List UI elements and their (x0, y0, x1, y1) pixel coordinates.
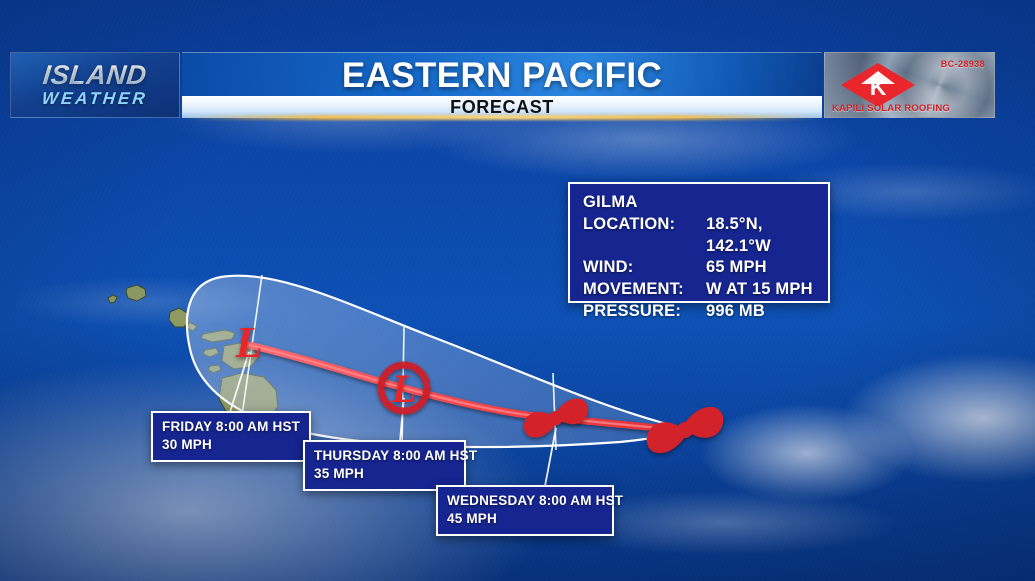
location-label: LOCATION: (583, 214, 706, 258)
forecast-callout-wednesday: WEDNESDAY 8:00 AM HST 45 MPH (436, 485, 614, 536)
movement-label: MOVEMENT: (583, 279, 706, 301)
storm-info-row-location: LOCATION: 18.5°N, 142.1°W (583, 214, 828, 258)
page-title: EASTERN PACIFIC (342, 58, 662, 93)
callout-daytime: FRIDAY 8:00 AM HST (162, 418, 300, 436)
weather-forecast-graphic: L L ISLAND WEATHER EASTERN PACIFIC (0, 0, 1035, 581)
roof-icon (861, 71, 895, 84)
forecast-callout-friday: FRIDAY 8:00 AM HST 30 MPH (151, 411, 311, 462)
storm-info-row-movement: MOVEMENT: W AT 15 MPH (583, 279, 828, 301)
storm-info-box: GILMA LOCATION: 18.5°N, 142.1°W WIND: 65… (568, 182, 830, 303)
logo-primary-text: ISLAND (42, 63, 148, 89)
banner-title-block: EASTERN PACIFIC FORECAST (182, 52, 822, 118)
sponsor-license-number: BC-28938 (941, 59, 985, 69)
storm-info-row-wind: WIND: 65 MPH (583, 257, 828, 279)
callout-daytime: THURSDAY 8:00 AM HST (314, 447, 455, 465)
wind-value: 65 MPH (706, 257, 767, 279)
island-weather-logo: ISLAND WEATHER (10, 52, 180, 118)
page-subtitle: FORECAST (450, 98, 554, 116)
header-banner: ISLAND WEATHER EASTERN PACIFIC FORECAST … (10, 52, 995, 118)
callout-wind: 45 MPH (447, 510, 603, 528)
banner-glow-accent (182, 115, 822, 120)
forecast-callout-thursday: THURSDAY 8:00 AM HST 35 MPH (303, 440, 466, 491)
callout-wind: 30 MPH (162, 436, 300, 454)
pressure-value: 996 MB (706, 301, 765, 323)
callout-wind: 35 MPH (314, 465, 455, 483)
wind-label: WIND: (583, 257, 706, 279)
storm-name: GILMA (583, 192, 828, 214)
banner-title-bar: EASTERN PACIFIC (182, 52, 822, 97)
movement-value: W AT 15 MPH (706, 279, 813, 301)
storm-info-row-pressure: PRESSURE: 996 MB (583, 301, 828, 323)
sponsor-name: KAPILI SOLAR ROOFING (832, 103, 950, 114)
logo-secondary-text: WEATHER (41, 90, 148, 107)
pressure-label: PRESSURE: (583, 301, 706, 323)
sponsor-logo-panel[interactable]: K BC-28938 KAPILI SOLAR ROOFING (824, 52, 995, 118)
callout-daytime: WEDNESDAY 8:00 AM HST (447, 492, 603, 510)
location-value: 18.5°N, 142.1°W (706, 214, 828, 258)
